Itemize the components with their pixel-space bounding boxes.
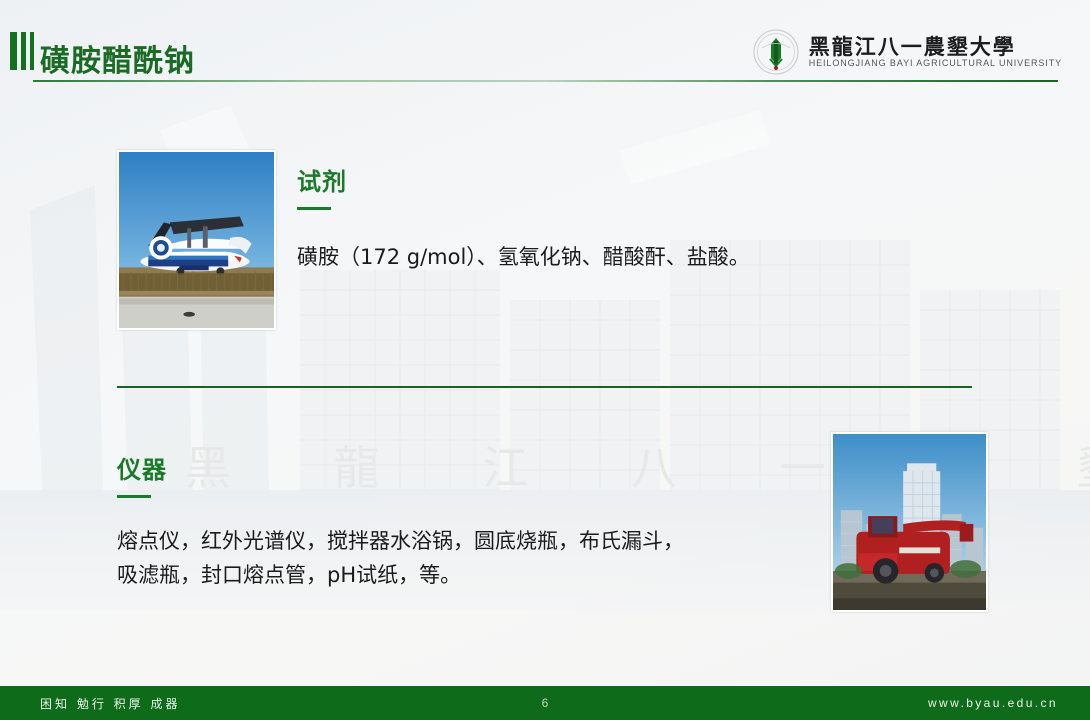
footer-motto: 困知 勉行 积厚 成器 <box>40 695 180 712</box>
instrument-photo-harvester <box>831 432 988 612</box>
logo-english-name: HEILONGJIANG BAYI AGRICULTURAL UNIVERSIT… <box>809 59 1062 68</box>
page-number: 6 <box>542 696 549 710</box>
logo-chinese-name: 黑龍江八一農墾大學 <box>809 36 1062 57</box>
header-divider <box>33 80 1058 82</box>
instrument-section: 仪器 熔点仪，红外光谱仪，搅拌器水浴锅，圆底烧瓶，布氏漏斗， 吸滤瓶，封口熔点管… <box>117 450 817 592</box>
instrument-list-text: 熔点仪，红外光谱仪，搅拌器水浴锅，圆底烧瓶，布氏漏斗， 吸滤瓶，封口熔点管，pH… <box>117 524 817 592</box>
title-accent-bars-icon <box>10 32 34 70</box>
instrument-heading-underline <box>117 495 151 498</box>
reagent-heading-underline <box>297 207 331 210</box>
reagent-section: 试剂 磺胺（172 g/mol）、氢氧化钠、醋酸酐、盐酸。 <box>297 162 997 274</box>
reagent-heading: 试剂 <box>297 162 997 197</box>
instrument-heading: 仪器 <box>117 450 817 485</box>
university-logo: 黑龍江八一農墾大學 HEILONGJIANG BAYI AGRICULTURAL… <box>752 28 1062 76</box>
instrument-list-line-2: 吸滤瓶，封口熔点管，pH试纸，等。 <box>117 558 817 592</box>
section-divider <box>117 386 972 388</box>
slide: 黑 龍 江 八 一 農 墾 大 磺胺醋酰钠 黑龍江八一農墾大學 <box>0 0 1090 720</box>
footer-website-url[interactable]: www.byau.edu.cn <box>928 696 1058 710</box>
page-title: 磺胺醋酰钠 <box>40 36 195 80</box>
reagent-photo-aircraft <box>117 150 276 330</box>
instrument-list-line-1: 熔点仪，红外光谱仪，搅拌器水浴锅，圆底烧瓶，布氏漏斗， <box>117 524 817 558</box>
reagent-list-text: 磺胺（172 g/mol）、氢氧化钠、醋酸酐、盐酸。 <box>297 240 997 274</box>
slide-header: 磺胺醋酰钠 黑龍江八一農墾大學 HEILONGJIANG BAYI AGRICU… <box>0 0 1090 96</box>
slide-footer: 困知 勉行 积厚 成器 6 www.byau.edu.cn <box>0 686 1090 720</box>
university-seal-icon <box>752 28 800 76</box>
